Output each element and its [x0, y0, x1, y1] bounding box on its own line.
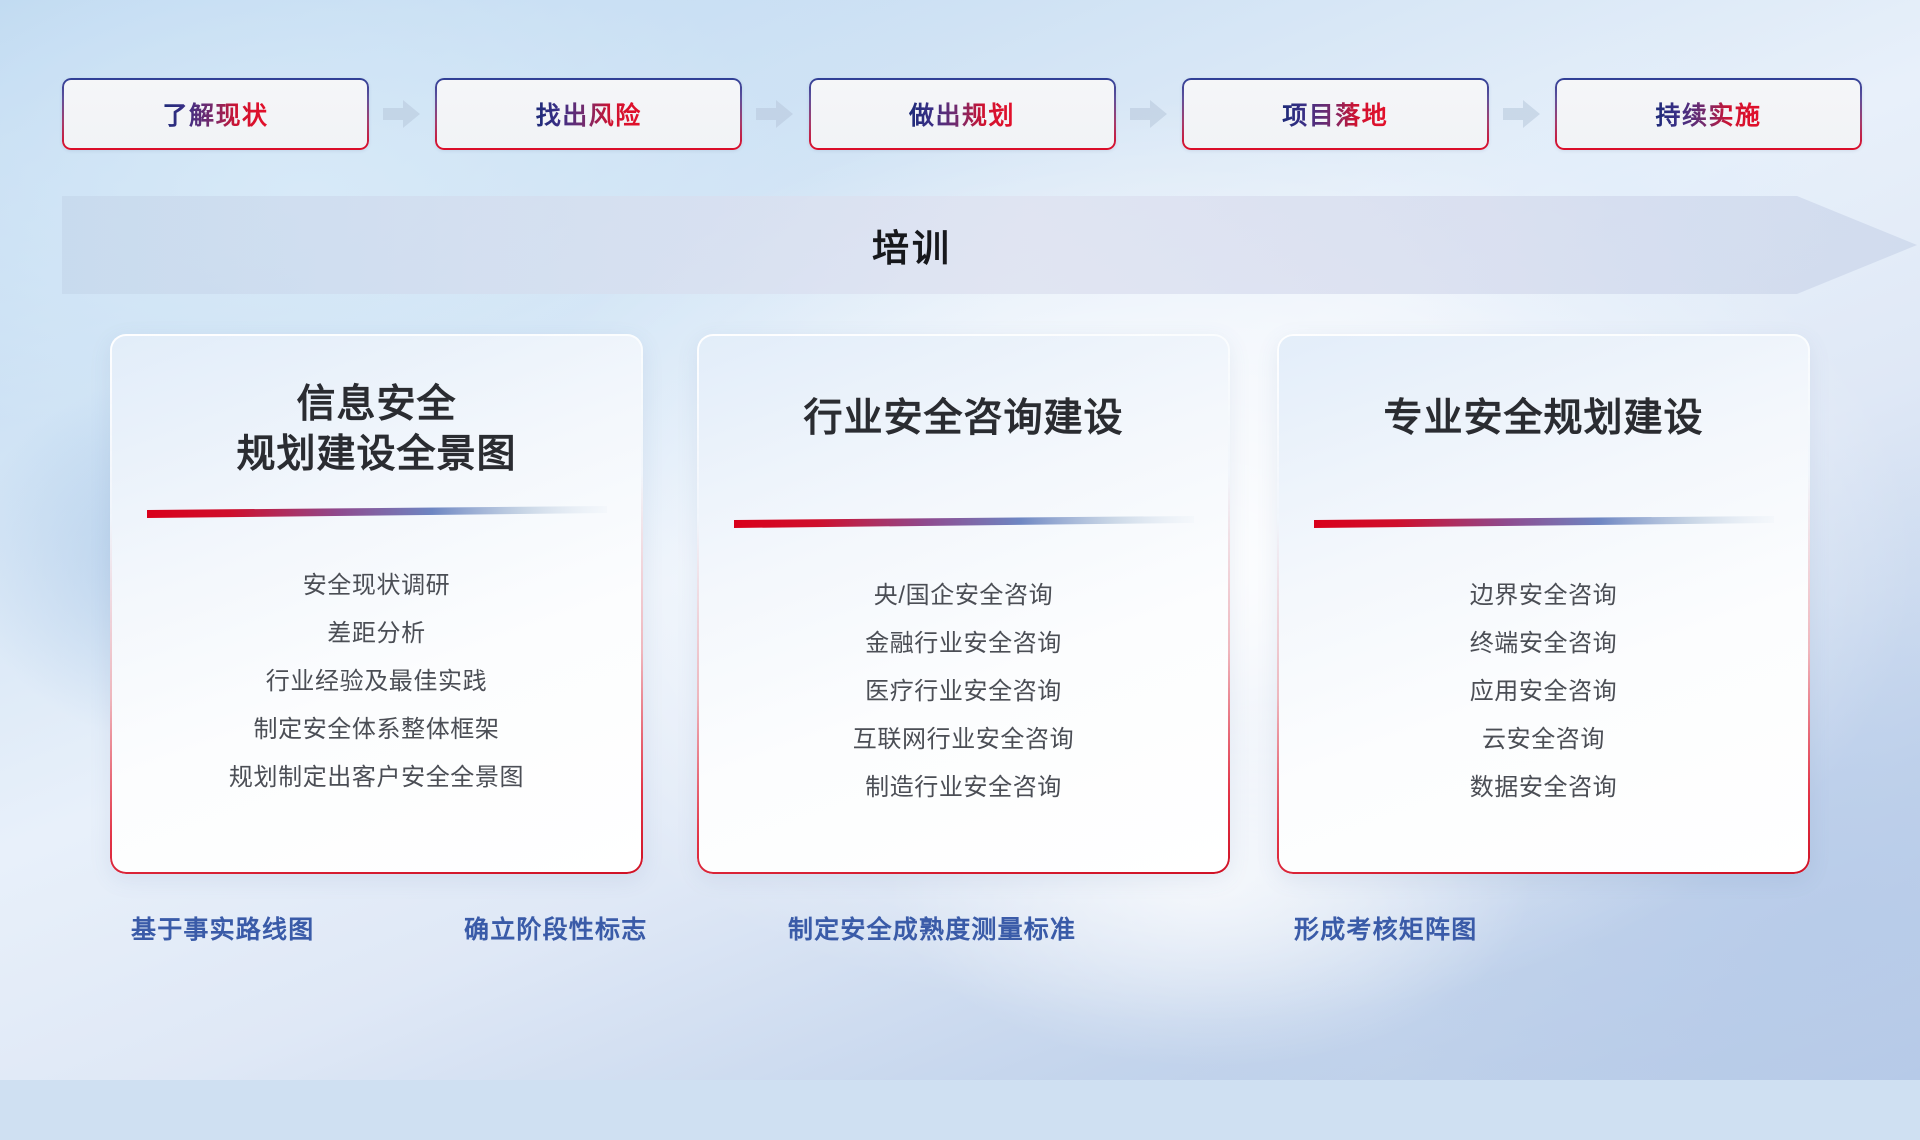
- card-1-list: 安全现状调研 差距分析 行业经验及最佳实践 制定安全体系整体框架 规划制定出客户…: [134, 562, 619, 802]
- list-item: 制造行业安全咨询: [721, 764, 1206, 812]
- caption-assessment-matrix: 形成考核矩阵图: [1294, 910, 1477, 946]
- list-item: 应用安全咨询: [1301, 668, 1786, 716]
- caption-fact-based-roadmap: 基于事实路线图: [131, 910, 314, 946]
- training-banner-label: 培训: [62, 196, 1762, 294]
- card-industry-security-consulting[interactable]: 行业安全咨询建设: [697, 334, 1230, 874]
- caption-maturity-measurement: 制定安全成熟度测量标准: [788, 910, 1076, 946]
- list-item: 数据安全咨询: [1301, 764, 1786, 812]
- list-item: 医疗行业安全咨询: [721, 668, 1206, 716]
- card-row: 信息安全 规划建设全景图: [0, 334, 1920, 874]
- list-item: 差距分析: [134, 610, 619, 658]
- process-step-2[interactable]: 找出风险: [435, 78, 742, 150]
- card-professional-security-planning[interactable]: 专业安全规划建设: [1277, 334, 1810, 874]
- card-2-list: 央/国企安全咨询 金融行业安全咨询 医疗行业安全咨询 互联网行业安全咨询 制造行…: [721, 572, 1206, 812]
- process-step-1-label: 了解现状: [162, 96, 268, 132]
- card-information-security-blueprint[interactable]: 信息安全 规划建设全景图: [110, 334, 643, 874]
- process-step-5-label: 持续实施: [1655, 96, 1761, 132]
- list-item: 边界安全咨询: [1301, 572, 1786, 620]
- list-item: 制定安全体系整体框架: [134, 706, 619, 754]
- list-item: 行业经验及最佳实践: [134, 658, 619, 706]
- training-banner: 培训: [62, 196, 1917, 294]
- card-1-title: 信息安全 规划建设全景图: [236, 380, 516, 480]
- arrow-right-icon: [383, 99, 421, 129]
- process-step-1[interactable]: 了解现状: [62, 78, 369, 150]
- card-3-title: 专业安全规划建设: [1383, 394, 1703, 444]
- card-2-title: 行业安全咨询建设: [803, 394, 1123, 444]
- arrow-right-icon: [1130, 99, 1168, 129]
- process-step-4-label: 项目落地: [1282, 96, 1388, 132]
- list-item: 安全现状调研: [134, 562, 619, 610]
- process-step-3-label: 做出规划: [909, 96, 1015, 132]
- arrow-right-icon: [1503, 99, 1541, 129]
- card-3-list: 边界安全咨询 终端安全咨询 应用安全咨询 云安全咨询 数据安全咨询: [1301, 572, 1786, 812]
- process-step-4[interactable]: 项目落地: [1182, 78, 1489, 150]
- list-item: 云安全咨询: [1301, 716, 1786, 764]
- card-3-divider: [1314, 516, 1774, 530]
- list-item: 金融行业安全咨询: [721, 620, 1206, 668]
- list-item: 终端安全咨询: [1301, 620, 1786, 668]
- process-step-3[interactable]: 做出规划: [809, 78, 1116, 150]
- caption-row: 基于事实路线图 确立阶段性标志 制定安全成熟度测量标准 形成考核矩阵图: [0, 910, 1920, 954]
- list-item: 规划制定出客户安全全景图: [134, 754, 619, 802]
- caption-phase-milestones: 确立阶段性标志: [464, 910, 647, 946]
- process-step-2-label: 找出风险: [536, 96, 642, 132]
- card-2-divider: [734, 516, 1194, 530]
- list-item: 央/国企安全咨询: [721, 572, 1206, 620]
- arrow-right-icon: [756, 99, 794, 129]
- process-step-5[interactable]: 持续实施: [1555, 78, 1862, 150]
- card-1-divider: [147, 506, 607, 520]
- list-item: 互联网行业安全咨询: [721, 716, 1206, 764]
- process-step-row: 了解现状 找出风险 做出规划 项目落地 持续实施: [62, 78, 1862, 150]
